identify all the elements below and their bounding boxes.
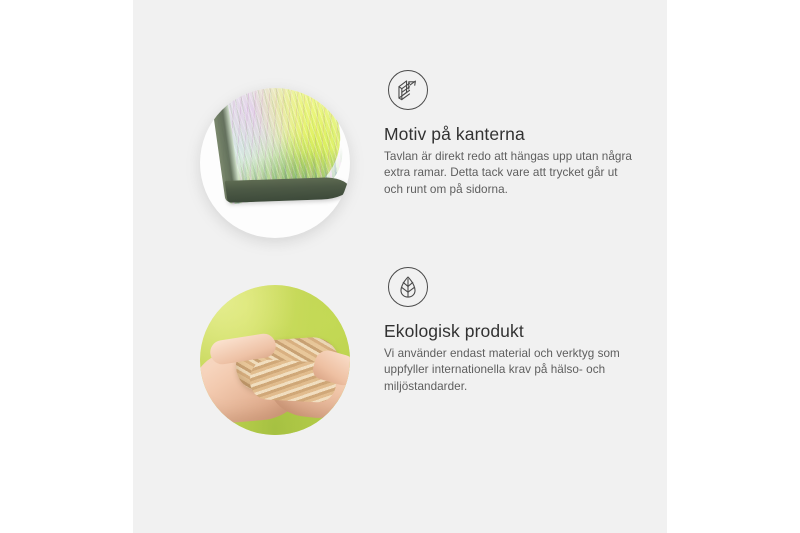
feature-media-wrap [200, 88, 350, 238]
canvas-side-edge-bottom [225, 177, 350, 203]
content-panel: Motiv på kanterna Tavlan är direkt redo … [133, 0, 667, 533]
feature-text-column: Motiv på kanterna Tavlan är direkt redo … [384, 70, 652, 198]
feature-title: Ekologisk produkt [384, 321, 652, 341]
leaf-icon [388, 267, 428, 307]
hands-holding-chips [200, 339, 350, 425]
feature-title: Motiv på kanterna [384, 124, 652, 144]
canvas-wrap-icon [388, 70, 428, 110]
feature-media-wrap [200, 285, 350, 435]
wood-chips-in-hands-photo [200, 285, 350, 435]
page-root: Motiv på kanterna Tavlan är direkt redo … [0, 0, 800, 533]
canvas-corner-photo [200, 88, 350, 238]
canvas-corner-shape [213, 88, 350, 227]
feature-text-column: Ekologisk produkt Vi använder endast mat… [384, 267, 652, 395]
feature-body: Vi använder endast material och verktyg … [384, 346, 634, 395]
feature-body: Tavlan är direkt redo att hängas upp uta… [384, 149, 634, 198]
